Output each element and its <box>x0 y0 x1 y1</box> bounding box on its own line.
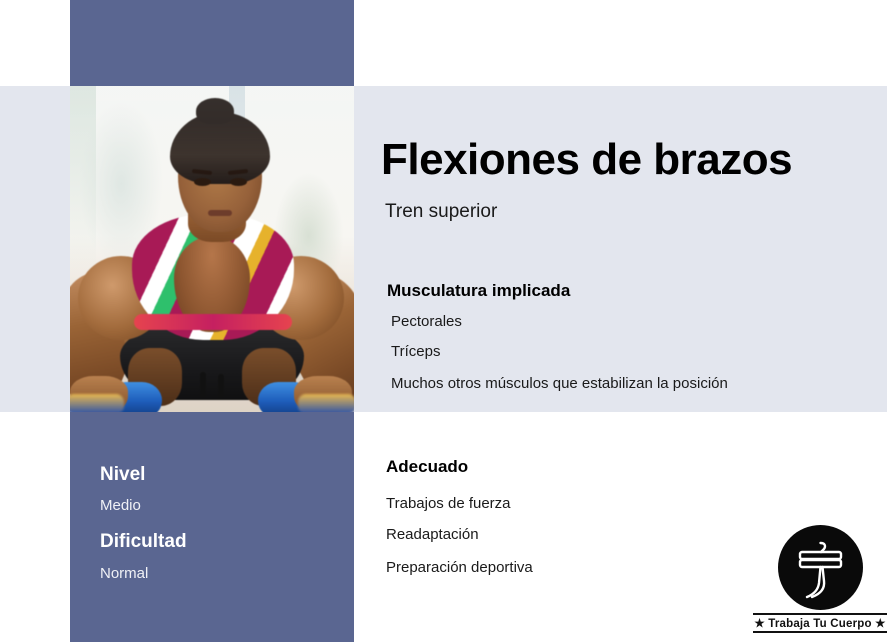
suitability-item: Readaptación <box>386 526 479 543</box>
level-label: Nivel <box>100 464 145 486</box>
muscles-item: Muchos otros músculos que estabilizan la… <box>391 375 728 392</box>
figure-bra-band <box>134 314 292 330</box>
logo-wordmark: ★ Trabaja Tu Cuerpo ★ <box>753 613 887 633</box>
suitability-item: Preparación deportiva <box>386 559 533 576</box>
figure-eye-left <box>194 178 211 186</box>
muscles-heading: Musculatura implicada <box>387 281 570 301</box>
figure-hair-bun <box>196 98 234 124</box>
left-blue-panel <box>70 412 354 642</box>
level-value: Medio <box>100 497 141 514</box>
muscles-item: Pectorales <box>391 313 462 330</box>
figure-shorts-tie-right <box>218 374 224 398</box>
exercise-photo <box>70 86 354 412</box>
barbell-icon <box>778 525 863 610</box>
brand-logo: ★ Trabaja Tu Cuerpo ★ <box>753 525 887 642</box>
figure-push-up-bar-right <box>298 394 354 412</box>
figure-push-up-bar-left <box>70 394 124 412</box>
difficulty-label: Dificultad <box>100 531 187 553</box>
difficulty-value: Normal <box>100 565 148 582</box>
page-title: Flexiones de brazos <box>381 135 792 185</box>
figure-mouth <box>208 210 232 216</box>
figure-shorts-tie-left <box>200 372 206 398</box>
exercise-card: Flexiones de brazos Tren superior Muscul… <box>0 0 887 642</box>
suitability-item: Trabajos de fuerza <box>386 495 511 512</box>
suitability-heading: Adecuado <box>386 457 468 477</box>
page-subtitle: Tren superior <box>385 201 497 223</box>
top-blue-band <box>70 0 354 87</box>
logo-text: ★ Trabaja Tu Cuerpo ★ <box>753 615 887 631</box>
logo-rule-bottom <box>753 631 887 633</box>
figure-eye-right <box>230 178 247 186</box>
muscles-item: Tríceps <box>391 343 440 360</box>
